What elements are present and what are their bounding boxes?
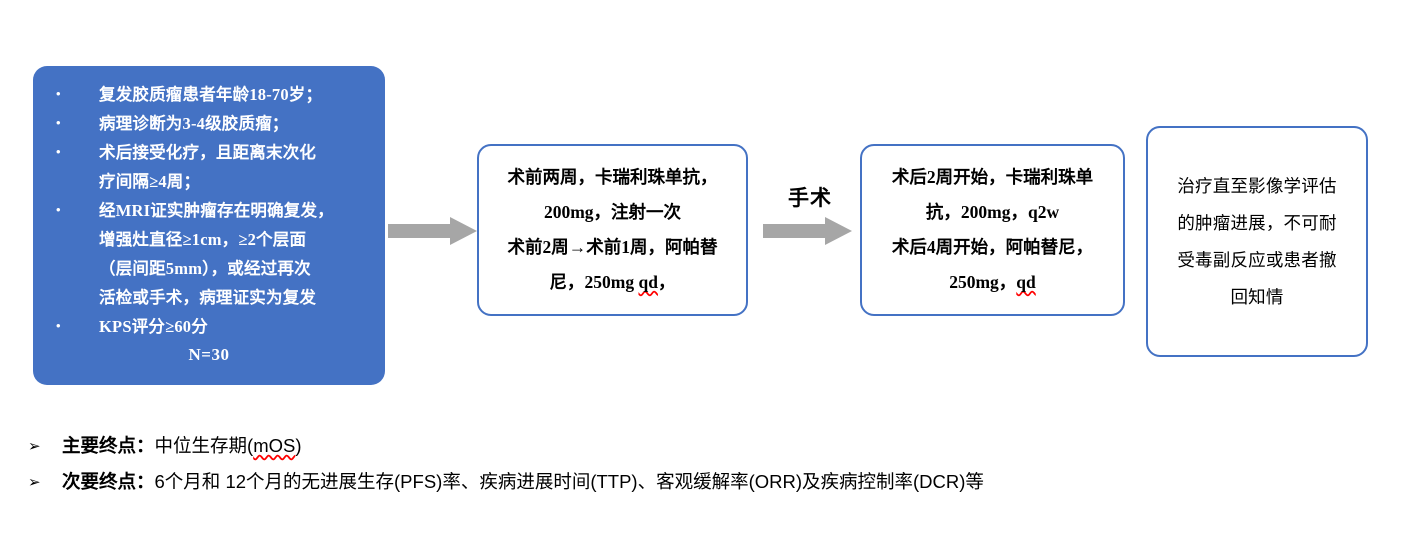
secondary-endpoint-text: 次要终点：6个月和 12个月的无进展生存(PFS)率、疾病进展时间(TTP)、客… (62, 468, 984, 496)
treatment-duration-box: 治疗直至影像学评估 的肿瘤进展，不可耐 受毒副反应或患者撤 回知情 (1146, 126, 1368, 357)
primary-endpoint-text: 主要终点：中位生存期(mOS) (62, 432, 302, 460)
list-item: 病理诊断为3-4级胶质瘤； (43, 109, 375, 138)
preop-line-2: 200mg，注射一次 (544, 195, 681, 230)
until-line-3: 受毒副反应或患者撤 (1177, 242, 1336, 279)
spellcheck-token: mOS (253, 435, 295, 456)
primary-endpoint-row: ➢ 主要终点：中位生存期(mOS) (28, 432, 1368, 468)
spellcheck-token: qd (638, 272, 657, 292)
list-item: 经MRI证实肿瘤存在明确复发， (43, 196, 375, 225)
postoperative-treatment-box: 术后2周开始，卡瑞利珠单 抗，200mg，q2w 术后4周开始，阿帕替尼， 25… (860, 144, 1125, 316)
arrow-bullet-icon: ➢ (28, 468, 62, 496)
eligibility-criteria-box: 复发胶质瘤患者年龄18-70岁； 病理诊断为3-4级胶质瘤； 术后接受化疗，且距… (33, 66, 385, 385)
endpoints-section: ➢ 主要终点：中位生存期(mOS) ➢ 次要终点：6个月和 12个月的无进展生存… (28, 432, 1368, 504)
preoperative-treatment-box: 术前两周，卡瑞利珠单抗， 200mg，注射一次 术前2周→术前1周，阿帕替 尼，… (477, 144, 748, 316)
until-line-2: 的肿瘤进展，不可耐 (1177, 205, 1336, 242)
preop-line-3: 术前2周→术前1周，阿帕替 (508, 230, 718, 265)
list-item: 复发胶质瘤患者年龄18-70岁； (43, 80, 375, 109)
arrow-bullet-icon: ➢ (28, 432, 62, 460)
list-item-continuation: 疗间隔≥4周； (43, 167, 375, 196)
postop-line-3: 术后4周开始，阿帕替尼， (892, 230, 1093, 265)
list-item-continuation: 增强灶直径≥1cm，≥2个层面 (43, 225, 375, 254)
sample-size-label: N=30 (43, 345, 375, 365)
list-item-continuation: （层间距5mm），或经过再次 (43, 254, 375, 283)
secondary-endpoint-value: 6个月和 12个月的无进展生存(PFS)率、疾病进展时间(TTP)、客观缓解率(… (155, 471, 984, 492)
list-item: KPS评分≥60分 (43, 312, 375, 341)
until-line-4: 回知情 (1230, 279, 1283, 316)
primary-endpoint-label: 主要终点： (62, 435, 155, 456)
postop-line-4: 250mg，qd (949, 265, 1036, 300)
postop-line-2: 抗，200mg，q2w (926, 195, 1059, 230)
postop-line-1: 术后2周开始，卡瑞利珠单 (892, 160, 1093, 195)
right-arrow-icon (763, 217, 852, 245)
secondary-endpoint-row: ➢ 次要终点：6个月和 12个月的无进展生存(PFS)率、疾病进展时间(TTP)… (28, 468, 1368, 504)
list-item-continuation: 活检或手术，病理证实为复发 (43, 283, 375, 312)
until-line-1: 治疗直至影像学评估 (1177, 168, 1336, 205)
list-item: 术后接受化疗，且距离末次化 (43, 138, 375, 167)
right-arrow-icon (388, 217, 477, 245)
preop-line-4: 尼，250mg qd， (550, 265, 676, 300)
eligibility-criteria-list: 复发胶质瘤患者年龄18-70岁； 病理诊断为3-4级胶质瘤； 术后接受化疗，且距… (43, 80, 375, 341)
spellcheck-token: qd (1016, 272, 1035, 292)
preop-line-1: 术前两周，卡瑞利珠单抗， (508, 160, 718, 195)
surgery-step-label: 手术 (770, 182, 850, 212)
secondary-endpoint-label: 次要终点： (62, 471, 155, 492)
